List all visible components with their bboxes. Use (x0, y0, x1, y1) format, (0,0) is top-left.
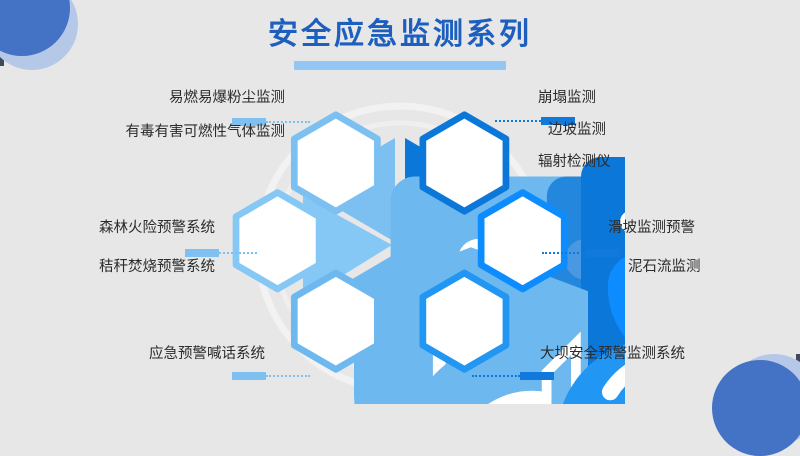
page-title: 安全应急监测系列 (0, 18, 800, 53)
connector-dots (495, 120, 541, 122)
label-forest-fire-warning-system: 森林火险预警系统 (20, 218, 215, 239)
label-group-middle-right: 滑坡监测预警 泥石流监测 (608, 218, 798, 278)
label-straw-burning-warning-system: 秸秆焚烧预警系统 (20, 257, 215, 278)
label-dam-safety-warning-monitoring-system: 大坝安全预警监测系统 (540, 344, 755, 365)
label-group-bottom-right: 大坝安全预警监测系统 (540, 344, 755, 365)
title-underline-bar (294, 61, 506, 70)
connector-bottom-left (232, 372, 310, 380)
connector-dots (219, 252, 257, 254)
title-block: 安全应急监测系列 (0, 18, 800, 70)
connector-dash (232, 372, 266, 380)
label-collapse-monitoring: 崩塌监测 (538, 88, 748, 109)
label-group-bottom-left: 应急预警喊话系统 (60, 344, 265, 365)
label-slope-monitoring: 边坡监测 (538, 120, 748, 141)
connector-dash (520, 372, 554, 380)
connector-bottom-right (472, 372, 554, 380)
label-radiation-detector: 辐射检测仪 (538, 152, 748, 173)
label-debris-flow-monitoring: 泥石流监测 (608, 257, 798, 278)
connector-dots (266, 375, 310, 377)
label-group-top-left: 易燃易爆粉尘监测 有毒有害可燃性气体监测 (40, 88, 285, 143)
label-flammable-dust-monitoring: 易燃易爆粉尘监测 (40, 88, 285, 109)
label-group-top-right: 崩塌监测 边坡监测 辐射检测仪 (538, 88, 748, 173)
label-landslide-monitoring-warning: 滑坡监测预警 (608, 218, 798, 239)
label-emergency-broadcast-system: 应急预警喊话系统 (60, 344, 265, 365)
connector-dots (472, 375, 520, 377)
label-group-middle-left: 森林火险预警系统 秸秆焚烧预警系统 (20, 218, 215, 278)
connector-dots (542, 252, 586, 254)
label-toxic-combustible-gas-monitoring: 有毒有害可燃性气体监测 (40, 122, 285, 143)
slide-canvas: 安全应急监测系列 R (0, 0, 800, 420)
corner-blob-dark-bottom-right (712, 360, 800, 456)
